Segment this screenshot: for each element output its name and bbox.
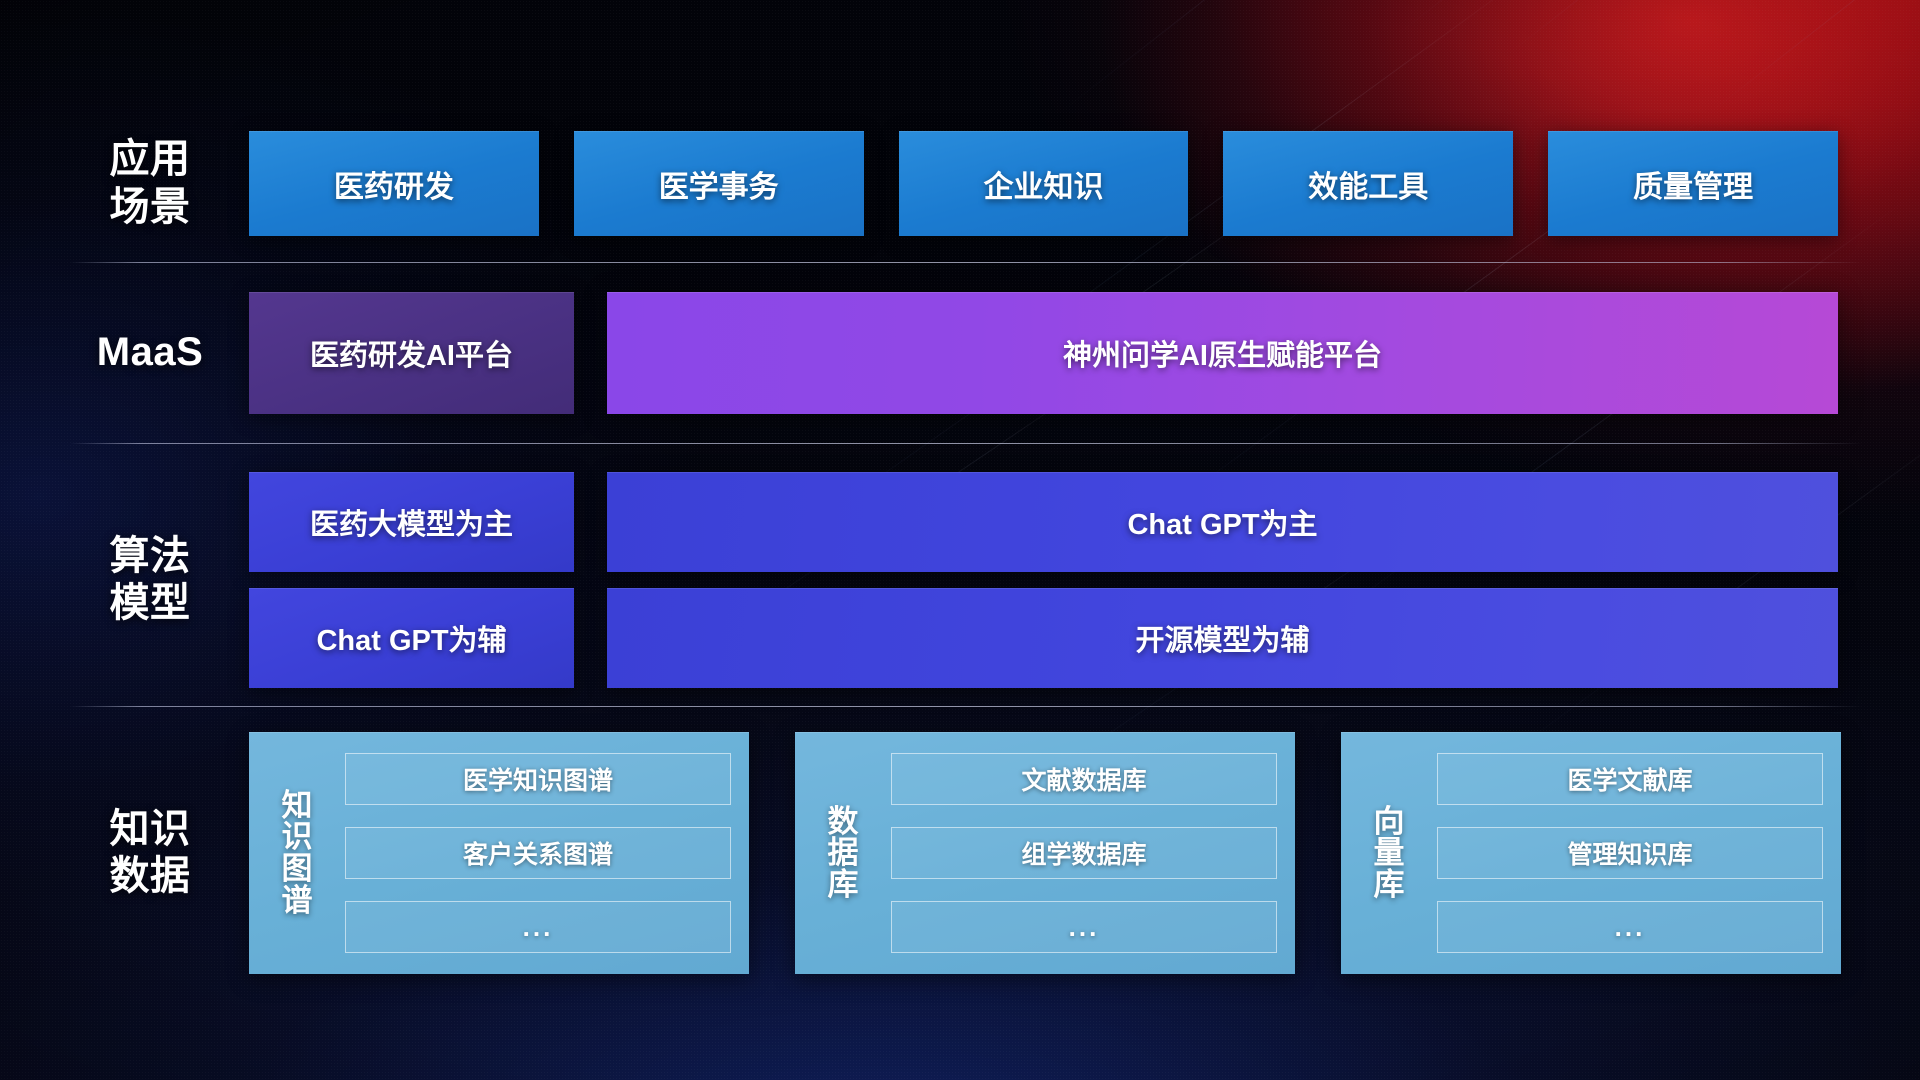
row-label-algorithm-model-line-0: 算法 (110, 533, 191, 580)
knowledge-group-label-char-0: 知 (282, 790, 313, 822)
algo-box-chatgpt-primary-label: Chat GPT为主 (1127, 501, 1317, 543)
slide-canvas: 应用场景医药研发医学事务企业知识效能工具质量管理MaaS医药研发AI平台神州问学… (0, 0, 1920, 1080)
knowledge-item-database-3[interactable]: ... (891, 901, 1277, 953)
knowledge-group-label-char-3: 谱 (282, 885, 313, 917)
knowledge-group-knowledge-graph: 知识图谱医学知识图谱客户关系图谱... (249, 732, 749, 974)
section-divider (70, 262, 1862, 263)
row-label-maas: MaaS (70, 284, 230, 422)
algo-box-chatgpt-secondary-label: Chat GPT为辅 (316, 617, 506, 659)
knowledge-item-knowledge-graph-1[interactable]: 医学知识图谱 (345, 753, 731, 805)
app-scenario-box-3-label: 企业知识 (983, 162, 1103, 206)
knowledge-item-vector-store-2[interactable]: 管理知识库 (1437, 827, 1823, 879)
app-scenario-box-2[interactable]: 医学事务 (574, 131, 864, 236)
app-scenario-box-5[interactable]: 质量管理 (1548, 131, 1838, 236)
knowledge-group-label-char-2: 库 (1374, 869, 1405, 901)
knowledge-group-label-char-1: 识 (282, 821, 313, 853)
knowledge-group-database: 数据库文献数据库组学数据库... (795, 732, 1295, 974)
row-label-application-scenarios: 应用场景 (70, 119, 230, 248)
knowledge-group-label-char-1: 据 (828, 837, 859, 869)
maas-box-enablement[interactable]: 神州问学AI原生赋能平台 (607, 292, 1838, 414)
row-label-maas-line-0: MaaS (97, 329, 204, 376)
knowledge-item-database-2[interactable]: 组学数据库 (891, 827, 1277, 879)
algo-box-opensource-secondary[interactable]: 开源模型为辅 (607, 588, 1838, 688)
row-label-algorithm-model: 算法模型 (70, 478, 230, 682)
diagram-content: 应用场景医药研发医学事务企业知识效能工具质量管理MaaS医药研发AI平台神州问学… (0, 0, 1920, 1080)
algo-box-pharma-model-label: 医药大模型为主 (310, 501, 513, 543)
section-divider (70, 706, 1862, 707)
knowledge-item-vector-store-1[interactable]: 医学文献库 (1437, 753, 1823, 805)
knowledge-group-label-vector-store: 向量库 (1341, 748, 1437, 958)
knowledge-group-items-vector-store: 医学文献库管理知识库... (1437, 748, 1823, 958)
row-label-algorithm-model-line-1: 模型 (110, 580, 191, 627)
row-label-application-scenarios-line-1: 场景 (110, 184, 191, 231)
row-label-application-scenarios-line-0: 应用 (110, 136, 191, 183)
maas-box-platform-label: 医药研发AI平台 (310, 332, 513, 374)
app-scenario-box-1-label: 医药研发 (334, 162, 454, 206)
row-label-knowledge-data-line-0: 知识 (110, 806, 191, 853)
maas-box-platform[interactable]: 医药研发AI平台 (249, 292, 574, 414)
knowledge-item-database-1[interactable]: 文献数据库 (891, 753, 1277, 805)
row-label-knowledge-data-line-1: 数据 (110, 853, 191, 900)
knowledge-item-vector-store-3[interactable]: ... (1437, 901, 1823, 953)
app-scenario-box-4-label: 效能工具 (1308, 162, 1428, 206)
knowledge-item-knowledge-graph-3[interactable]: ... (345, 901, 731, 953)
knowledge-item-knowledge-graph-2[interactable]: 客户关系图谱 (345, 827, 731, 879)
maas-box-enablement-label: 神州问学AI原生赋能平台 (1063, 332, 1382, 374)
algo-box-chatgpt-secondary[interactable]: Chat GPT为辅 (249, 588, 574, 688)
app-scenario-box-3[interactable]: 企业知识 (899, 131, 1189, 236)
algo-box-chatgpt-primary[interactable]: Chat GPT为主 (607, 472, 1838, 572)
app-scenario-box-5-label: 质量管理 (1633, 162, 1753, 206)
knowledge-group-vector-store: 向量库医学文献库管理知识库... (1341, 732, 1841, 974)
app-scenario-box-2-label: 医学事务 (659, 162, 779, 206)
row-label-knowledge-data: 知识数据 (70, 742, 230, 964)
section-divider (70, 443, 1862, 444)
knowledge-group-label-char-2: 库 (828, 869, 859, 901)
algo-box-opensource-secondary-label: 开源模型为辅 (1135, 617, 1309, 659)
knowledge-group-label-char-2: 图 (282, 853, 313, 885)
algo-box-pharma-model[interactable]: 医药大模型为主 (249, 472, 574, 572)
knowledge-group-label-database: 数据库 (795, 748, 891, 958)
knowledge-group-items-knowledge-graph: 医学知识图谱客户关系图谱... (345, 748, 731, 958)
knowledge-group-label-char-0: 数 (828, 806, 859, 838)
knowledge-group-label-knowledge-graph: 知识图谱 (249, 748, 345, 958)
app-scenario-box-4[interactable]: 效能工具 (1223, 131, 1513, 236)
app-scenario-box-1[interactable]: 医药研发 (249, 131, 539, 236)
knowledge-group-items-database: 文献数据库组学数据库... (891, 748, 1277, 958)
knowledge-group-label-char-0: 向 (1374, 806, 1405, 838)
knowledge-group-label-char-1: 量 (1374, 837, 1405, 869)
